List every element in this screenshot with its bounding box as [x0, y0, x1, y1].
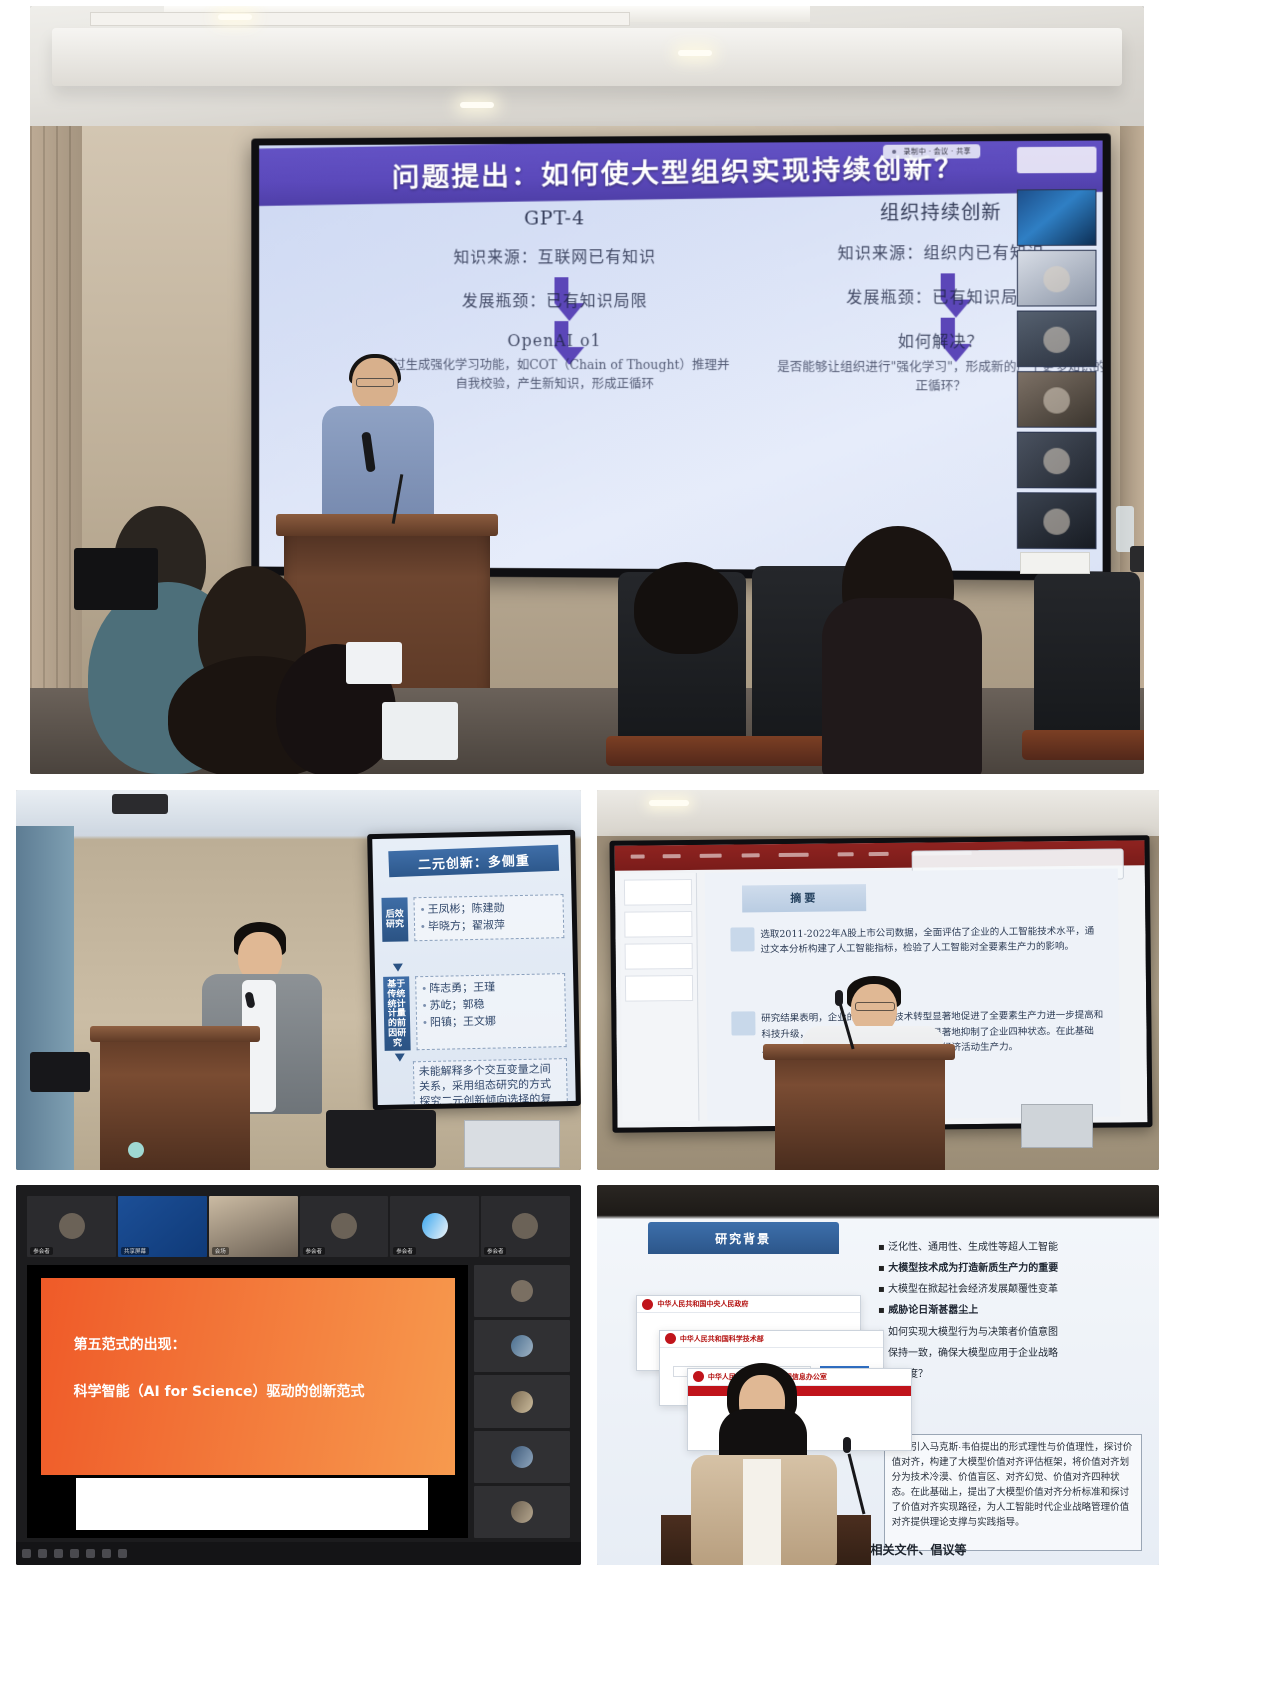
arrow-down-icon [393, 964, 403, 972]
curtain [16, 826, 74, 1170]
chair [1034, 572, 1140, 742]
row-tag: 后效研究 [381, 897, 408, 942]
toolbar-item[interactable] [837, 852, 853, 856]
left-line-3: OpenAI o1 [377, 331, 734, 350]
toolbar-item[interactable] [742, 853, 760, 857]
audience-member-4 [634, 562, 738, 654]
podium-top [90, 1026, 260, 1042]
slide-line-2: 科学智能（AI for Science）驱动的创新范式 [74, 1381, 365, 1401]
leave-icon[interactable] [118, 1549, 127, 1558]
glasses-icon [356, 378, 394, 387]
national-emblem-icon [642, 1299, 653, 1310]
gov-card-title: 中华人民共和国中央人民政府 [657, 1299, 748, 1309]
camera-strip-header [1017, 147, 1097, 174]
avatar [512, 1213, 538, 1239]
mute-icon[interactable] [22, 1549, 31, 1558]
arrow-down-icon [395, 1054, 405, 1062]
participant-tile[interactable]: 参会者 [300, 1196, 389, 1257]
toolbar-item[interactable] [779, 852, 809, 856]
page-thumbnail[interactable] [625, 975, 693, 1002]
bullet-item: 威胁论日渐甚嚣尘上 [878, 1303, 1148, 1319]
shared-screen-tile[interactable]: 共享屏幕 [118, 1196, 207, 1257]
participant-name: 会场 [212, 1247, 229, 1255]
bullet-icon [730, 927, 754, 951]
avatar [422, 1213, 448, 1239]
online-meeting-photo: 参会者 共享屏幕 会场 参会者 参会者 参会者 第五范式的出 [16, 1185, 581, 1565]
cup [1130, 546, 1144, 572]
slide-white-block [76, 1478, 429, 1530]
abstract-presentation-photo: 摘要 选取2011-2022年A股上市公司数据，全面评估了企业的人工智能技术水平… [597, 790, 1159, 1170]
projector [112, 794, 168, 814]
document-sidebar[interactable] [620, 873, 699, 1122]
ceiling [16, 790, 581, 832]
page-thumbnail[interactable] [625, 943, 693, 970]
page-thumbnail[interactable] [624, 879, 692, 906]
list-item: 毕晓方；翟淑萍 [421, 916, 557, 936]
toolbar-item[interactable] [662, 854, 680, 858]
participant-name: 参会者 [30, 1247, 53, 1255]
toolbar-item[interactable] [631, 854, 645, 858]
microphone [843, 1437, 851, 1453]
toolbar-item[interactable] [699, 853, 721, 857]
participant-tile-6[interactable] [1017, 492, 1097, 549]
participant-strip: 参会者 共享屏幕 会场 参会者 参会者 参会者 [27, 1196, 569, 1257]
national-emblem-icon [665, 1333, 676, 1344]
equipment-case [326, 1110, 436, 1168]
bullet-icon [731, 1011, 755, 1035]
participant-tile[interactable] [474, 1431, 570, 1483]
audience-body-right [822, 598, 982, 774]
paper-stack [382, 702, 458, 760]
bullet-item: 大模型技术成为打造新质生产力的重要 [878, 1261, 1148, 1277]
bullet-item: 保持一致，确保大模型应用于企业战略 [878, 1346, 1148, 1362]
participant-name: 参会者 [393, 1247, 416, 1255]
projection-screen: 二元创新：多侧重 后效研究 王凤彬；陈建勋 毕晓方；翟淑萍 基于传统统计计量的前… [367, 830, 581, 1110]
participant-tiles [1017, 189, 1097, 553]
participant-tile[interactable] [474, 1375, 570, 1427]
participant-tile-3[interactable] [1017, 310, 1097, 367]
video-icon[interactable] [38, 1549, 47, 1558]
participants-icon[interactable] [54, 1549, 63, 1558]
slide-title: 研究背景 [648, 1222, 839, 1253]
left-heading: GPT-4 [377, 207, 734, 230]
dual-innovation-photo: 二元创新：多侧重 后效研究 王凤彬；陈建勋 毕晓方；翟淑萍 基于传统统计计量的前… [16, 790, 581, 1170]
podium [100, 1034, 250, 1170]
participant-tile-2[interactable] [1017, 250, 1097, 307]
participant-name: 参会者 [303, 1247, 326, 1255]
gov-card-header: 中华人民共和国中央人民政府 [637, 1296, 860, 1313]
ceiling-light [218, 14, 252, 20]
participant-tile-1[interactable] [1017, 189, 1097, 246]
share-icon[interactable] [86, 1549, 95, 1558]
main-keynote-photo: 问题提出：如何使大型组织实现持续创新？ 录制中 · 会议 · 共享 GPT-4 … [30, 6, 1144, 774]
page-thumbnail[interactable] [625, 911, 693, 938]
podium-top [763, 1044, 955, 1060]
conference-room-tile[interactable]: 会场 [209, 1196, 298, 1257]
gov-card-header: 中华人民共和国科学技术部 [660, 1331, 883, 1348]
value-alignment-photo: 研究背景 泛化性、通用性、生成性等超人工智能 大模型技术成为打造新质生产力的重要… [597, 1185, 1159, 1565]
participant-tile[interactable]: 参会者 [481, 1196, 570, 1257]
monitor [74, 548, 158, 610]
slide-surface: 二元创新：多侧重 后效研究 王凤彬；陈建勋 毕晓方；翟淑萍 基于传统统计计量的前… [372, 835, 576, 1105]
glasses-icon [855, 1002, 895, 1011]
participant-tile-5[interactable] [1017, 432, 1097, 489]
ceiling-light [678, 50, 712, 56]
slide-row-1: 后效研究 王凤彬；陈建勋 毕晓方；翟淑萍 [381, 894, 564, 942]
participant-tile[interactable]: 参会者 [27, 1196, 116, 1257]
recording-chip: 录制中 · 会议 · 共享 [883, 144, 980, 159]
left-line-2: 发展瓶颈：已有知识局限 [377, 287, 734, 311]
ceiling-strip [90, 12, 630, 26]
photo-collage: 问题提出：如何使大型组织实现持续创新？ 录制中 · 会议 · 共享 GPT-4 … [0, 0, 1279, 1706]
laptop [1021, 1104, 1093, 1148]
avatar [59, 1213, 85, 1239]
document-title: 摘要 [742, 884, 866, 913]
participant-tile-4[interactable] [1017, 371, 1097, 428]
record-dot-icon [892, 150, 896, 154]
slide-line-1: 第五范式的出现： [74, 1334, 186, 1354]
slide-abstract-box: 本文引入马克斯·韦伯提出的形式理性与价值理性，探讨价值对齐，构建了大模型价值对齐… [884, 1434, 1143, 1552]
speaker-inner-top [743, 1459, 781, 1565]
projection-slide: 研究背景 泛化性、通用性、生成性等超人工智能 大模型技术成为打造新质生产力的重要… [597, 1219, 1159, 1565]
side-participant-column [474, 1265, 570, 1539]
speaker [691, 1363, 837, 1563]
meeting-toolbar [16, 1542, 581, 1565]
cup [128, 1142, 144, 1158]
recording-chip-label: 录制中 · 会议 · 共享 [904, 146, 972, 156]
monitor [30, 1052, 90, 1092]
chat-icon[interactable] [70, 1549, 79, 1558]
slide-bullets: 泛化性、通用性、生成性等超人工智能 大模型技术成为打造新质生产力的重要 大模型在… [878, 1240, 1148, 1388]
participant-tile[interactable] [474, 1320, 570, 1372]
ceiling [597, 790, 1159, 836]
list-item: 阳镇；王文娜 [423, 1013, 559, 1033]
row-items: 阵志勇；王瑾 苏屹；郭稳 阳镇；王文娜 [415, 973, 567, 1050]
toolbar-item[interactable] [869, 852, 889, 856]
abstract-paragraph-1: 选取2011-2022年A股上市公司数据，全面评估了企业的人工智能技术水平，通过… [730, 923, 1102, 958]
slide-title: 问题提出：如何使大型组织实现持续创新？ [392, 145, 965, 194]
bullet-item: 大模型在掀起社会经济发展颠覆性变革 [878, 1282, 1148, 1298]
participant-name: 共享屏幕 [121, 1247, 149, 1255]
participant-tile[interactable] [474, 1486, 570, 1538]
podium [775, 1052, 945, 1170]
slide-title: 二元创新：多侧重 [388, 844, 559, 877]
row-items: 王凤彬；陈建勋 毕晓方；翟淑萍 [413, 894, 564, 941]
left-line-1: 知识来源：互联网已有知识 [377, 243, 734, 268]
paragraph-text: 选取2011-2022年A股上市公司数据，全面评估了企业的人工智能技术水平，通过… [760, 923, 1102, 957]
avatar [331, 1213, 357, 1239]
podium-top [276, 514, 498, 536]
ceiling-light [649, 800, 689, 806]
participant-tile[interactable]: 参会者 [390, 1196, 479, 1257]
participant-tile[interactable] [474, 1265, 570, 1317]
slide-row-2: 基于传统统计计量的前因研究 阵志勇；王瑾 苏屹；郭稳 阳镇；王文娜 [383, 973, 567, 1051]
bullet-item: 如何实现大模型行为与决策者价值意图 [878, 1325, 1148, 1341]
tissue-box [346, 642, 402, 684]
row-tag: 基于传统统计计量的前因研究 [383, 977, 411, 1052]
laptop [464, 1120, 560, 1168]
microphone [835, 990, 843, 1006]
bullet-item: 信任度？ [878, 1367, 1148, 1383]
participant-name: 参会者 [484, 1247, 507, 1255]
record-icon[interactable] [102, 1549, 111, 1558]
ceiling-light [460, 102, 494, 108]
bullet-item: 泛化性、通用性、生成性等超人工智能 [878, 1240, 1148, 1256]
wall-panel-left [30, 126, 82, 774]
slide-note: 未能解释多个交互变量之间关系，采用组态研究的方式探究二元创新倾向选择的复杂因果路… [413, 1059, 569, 1106]
shared-screen-main: 第五范式的出现： 科学智能（AI for Science）驱动的创新范式 [27, 1265, 468, 1539]
name-plate [1020, 552, 1090, 574]
gov-card-title: 中华人民共和国科学技术部 [680, 1334, 764, 1344]
shared-slide: 第五范式的出现： 科学智能（AI for Science）驱动的创新范式 [41, 1278, 455, 1475]
